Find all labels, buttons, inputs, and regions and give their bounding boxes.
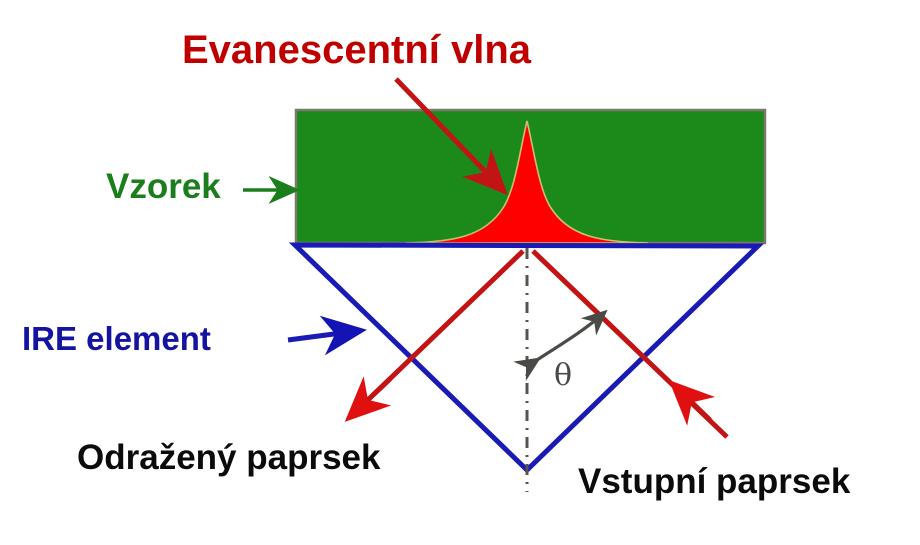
incident-beam-label: Vstupní paprsek bbox=[578, 462, 850, 502]
reflected-beam-label: Odražený paprsek bbox=[77, 438, 380, 478]
ire-element-label: IRE element bbox=[22, 320, 211, 358]
sample-label: Vzorek bbox=[106, 167, 221, 207]
annotation-arrow-ire bbox=[288, 331, 357, 340]
evanescent-wave-label: Evanescentní vlna bbox=[182, 28, 531, 73]
evanescent-wave-diagram: Evanescentní vlna Vzorek IRE element Odr… bbox=[0, 0, 920, 545]
reflected-ray bbox=[352, 251, 523, 415]
theta-angle-arc bbox=[537, 313, 604, 360]
theta-angle-label: θ bbox=[554, 358, 572, 393]
